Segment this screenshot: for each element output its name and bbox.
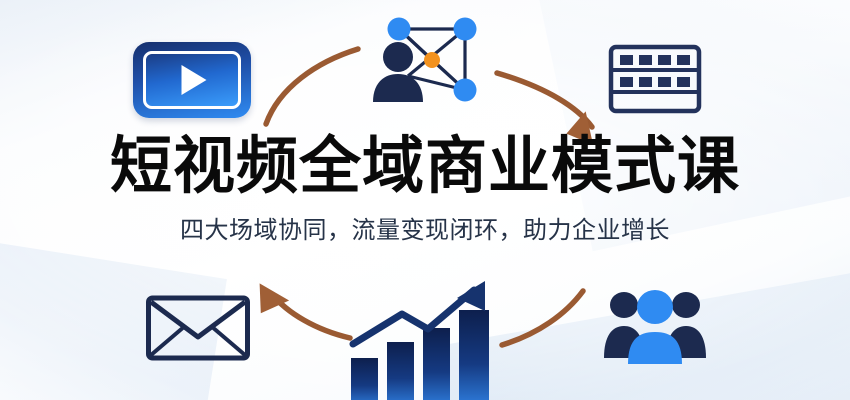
network-node (388, 18, 411, 41)
server-rack-icon (608, 44, 702, 114)
page-subtitle: 四大场域协同，流量变现闭环，助力企业增长 (0, 218, 850, 242)
video-play-icon (133, 42, 251, 118)
user-group-icon (603, 288, 707, 364)
network-node (454, 18, 477, 41)
video-play-icon-frame (133, 42, 251, 118)
chart-bar (351, 358, 378, 400)
title-block: 短视频全域商业模式课 四大场域协同，流量变现闭环，助力企业增长 (0, 135, 850, 242)
page-title: 短视频全域商业模式课 (0, 135, 850, 197)
video-play-icon-screen (143, 51, 241, 109)
trend-line (353, 290, 474, 344)
course-banner: .arw { fill: none; stroke: #9a5a32; stro… (0, 0, 850, 400)
growth-chart-icon (345, 276, 505, 400)
arrow-curve-top-right (497, 73, 592, 127)
network-center-node (424, 52, 440, 68)
play-triangle-icon (182, 65, 207, 95)
user-head-icon (610, 292, 638, 318)
arrow-curve-bottom-right (502, 291, 583, 345)
chart-bar (423, 328, 450, 400)
trend-arrow-head (457, 281, 485, 311)
chart-bar (387, 342, 414, 400)
user-head-icon (672, 292, 700, 318)
mail-envelope-icon (145, 294, 251, 362)
chart-bar (459, 310, 489, 400)
network-people-icon (368, 6, 484, 114)
person-head-icon (383, 42, 413, 72)
arrow-curve-top-left (266, 49, 358, 124)
user-head-icon (637, 290, 673, 324)
network-node (454, 79, 477, 102)
